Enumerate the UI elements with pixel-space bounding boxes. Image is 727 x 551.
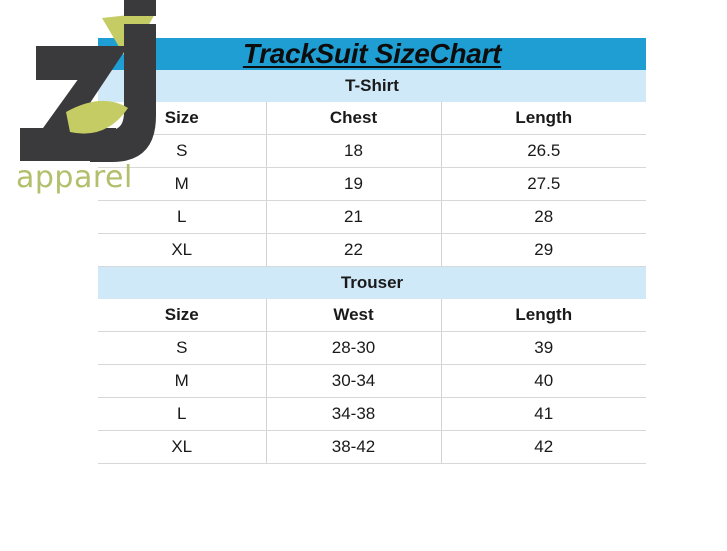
section-header-tshirt: T-Shirt [98, 70, 646, 102]
table-row: L 34-38 41 [98, 398, 646, 431]
cell-chest: 19 [266, 168, 441, 201]
section-header-trouser: Trouser [98, 267, 646, 300]
cell-length: 27.5 [441, 168, 646, 201]
size-chart-table: TrackSuit SizeChart T-Shirt Size Chest L… [98, 38, 646, 464]
table-row: M 30-34 40 [98, 365, 646, 398]
section-title-trouser: Trouser [98, 267, 646, 300]
cell-length: 40 [441, 365, 646, 398]
cell-length: 41 [441, 398, 646, 431]
z-top-bar [36, 46, 104, 80]
cell-west: 38-42 [266, 431, 441, 464]
cell-west: 34-38 [266, 398, 441, 431]
cell-length: 29 [441, 234, 646, 267]
cell-size: S [98, 332, 266, 365]
cell-size: S [98, 135, 266, 168]
cell-length: 42 [441, 431, 646, 464]
column-header-row-tshirt: Size Chest Length [98, 102, 646, 135]
cell-chest: 22 [266, 234, 441, 267]
chart-title-cell: TrackSuit SizeChart [98, 38, 646, 70]
section-title-tshirt: T-Shirt [98, 70, 646, 102]
cell-size: M [98, 168, 266, 201]
column-header-length: Length [441, 102, 646, 135]
cell-size: XL [98, 431, 266, 464]
column-header-size: Size [98, 102, 266, 135]
table-row: XL 38-42 42 [98, 431, 646, 464]
column-header-size: Size [98, 299, 266, 332]
cell-size: L [98, 398, 266, 431]
cell-chest: 18 [266, 135, 441, 168]
table-row: L 21 28 [98, 201, 646, 234]
cell-length: 39 [441, 332, 646, 365]
column-header-length: Length [441, 299, 646, 332]
column-header-west: West [266, 299, 441, 332]
column-header-row-trouser: Size West Length [98, 299, 646, 332]
chart-title-row: TrackSuit SizeChart [98, 38, 646, 70]
page-title: TrackSuit SizeChart [243, 38, 501, 69]
cell-west: 30-34 [266, 365, 441, 398]
column-header-chest: Chest [266, 102, 441, 135]
table-row: XL 22 29 [98, 234, 646, 267]
table-row: S 28-30 39 [98, 332, 646, 365]
j-dot [124, 0, 156, 16]
cell-chest: 21 [266, 201, 441, 234]
table-row: M 19 27.5 [98, 168, 646, 201]
cell-west: 28-30 [266, 332, 441, 365]
table-row: S 18 26.5 [98, 135, 646, 168]
cell-size: XL [98, 234, 266, 267]
cell-size: M [98, 365, 266, 398]
cell-length: 28 [441, 201, 646, 234]
cell-size: L [98, 201, 266, 234]
cell-length: 26.5 [441, 135, 646, 168]
